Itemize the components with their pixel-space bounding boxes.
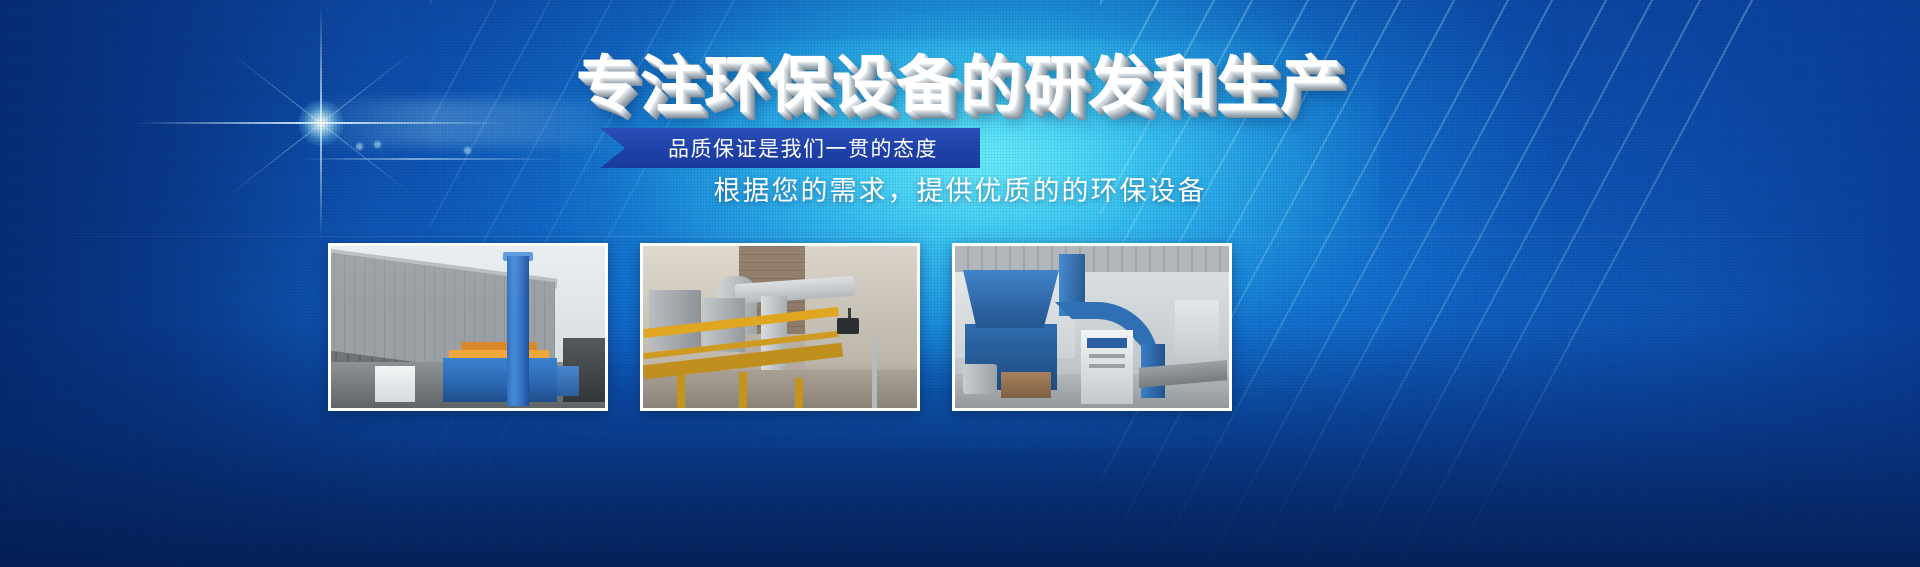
banner-ribbon: 品质保证是我们一贯的态度 (600, 128, 980, 168)
photo-waste-gas-treatment-workshop[interactable] (328, 243, 608, 411)
banner-content: 专注环保设备的研发和生产 品质保证是我们一贯的态度 根据您的需求，提供优质的的环… (0, 0, 1920, 567)
photo-strip (328, 243, 1232, 411)
banner-tagline: 根据您的需求，提供优质的的环保设备 (0, 174, 1920, 208)
promo-banner: 专注环保设备的研发和生产 品质保证是我们一贯的态度 根据您的需求，提供优质的的环… (0, 0, 1920, 567)
photo-scene-2 (643, 246, 917, 408)
photo-scene-3 (955, 246, 1229, 408)
photo-indoor-purification-plant[interactable] (640, 243, 920, 411)
photo-scene-1 (331, 246, 605, 408)
banner-headline: 专注环保设备的研发和生产 (0, 52, 1920, 120)
photo-dust-collector-system[interactable] (952, 243, 1232, 411)
ribbon-label: 品质保证是我们一贯的态度 (600, 128, 980, 168)
